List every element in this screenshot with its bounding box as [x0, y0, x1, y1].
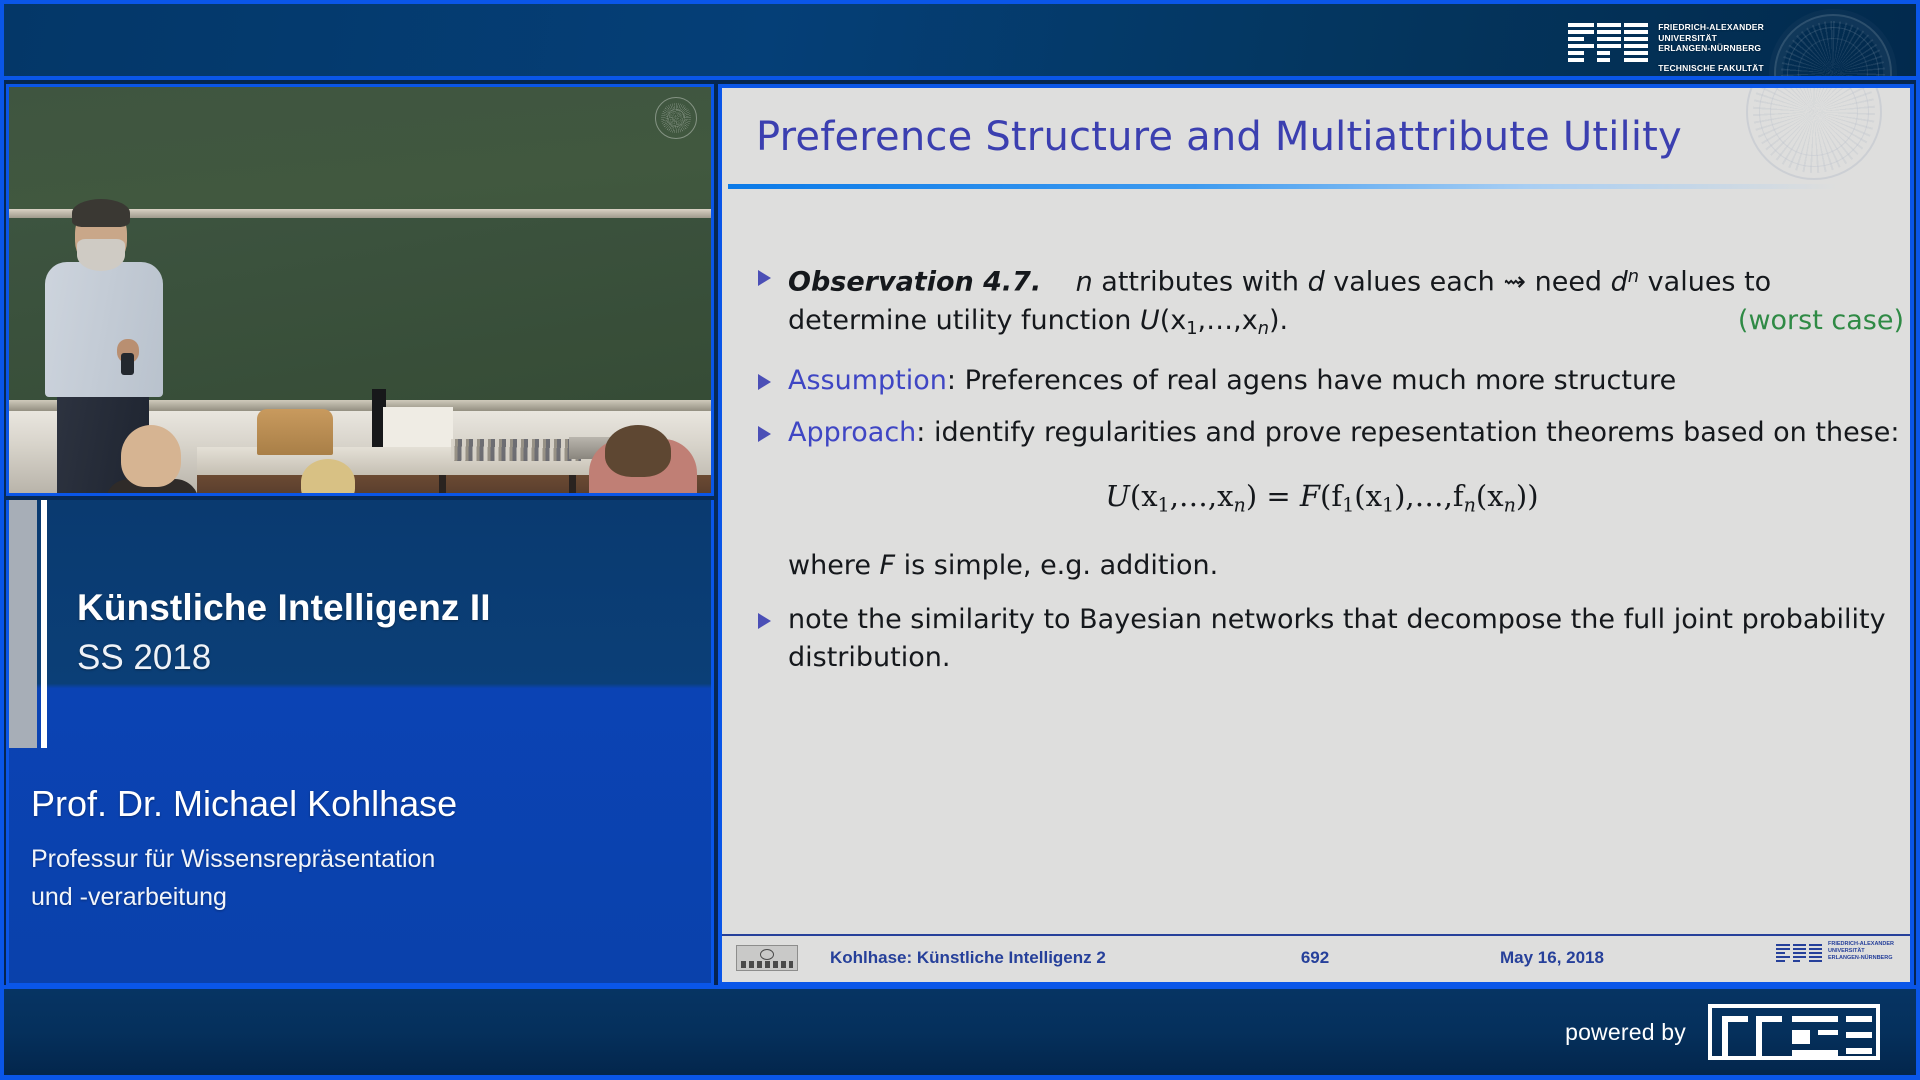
sub-n: n — [1258, 318, 1269, 339]
creative-commons-icon — [736, 945, 798, 971]
presenter-clicker — [121, 353, 134, 375]
accent-bar — [9, 500, 37, 748]
triangle-bullet-icon — [758, 613, 771, 629]
formula-fclose1: ),…,f — [1394, 479, 1463, 513]
bottom-bar: powered by — [4, 985, 1916, 1075]
powered-by-block: powered by — [1565, 1004, 1880, 1060]
approach-line: Approach: identify regularities and prov… — [788, 414, 1912, 452]
frame-right-border — [1916, 0, 1920, 1080]
bayesian-line-2: distribution. — [788, 639, 1912, 677]
frame-left-border — [0, 0, 4, 1080]
powered-by-label: powered by — [1565, 1019, 1686, 1046]
slide-title: Preference Structure and Multiattribute … — [756, 114, 1856, 160]
formula-farg2: (x — [1476, 479, 1504, 513]
player-stage: FRIEDRICH-ALEXANDER UNIVERSITÄT ERLANGEN… — [0, 0, 1920, 1080]
after-formula-F: F — [880, 550, 896, 581]
triangle-bullet-icon — [758, 426, 771, 442]
header-bar: FRIEDRICH-ALEXANDER UNIVERSITÄT ERLANGEN… — [4, 4, 1916, 80]
formula-fs2: n — [1464, 493, 1476, 516]
triangle-bullet-icon — [758, 270, 771, 286]
affiliation-line-1: Professur für Wissensrepräsentation — [31, 845, 435, 873]
formula-fsub1: 1 — [1382, 493, 1394, 516]
var-n: n — [1076, 267, 1093, 298]
squiggle-arrow-icon: ⇝ — [1503, 267, 1526, 298]
triangle-bullet-icon — [758, 374, 771, 390]
obs-text-g: values to — [1639, 267, 1771, 298]
lecturer-torso — [45, 262, 163, 397]
org-line-3: ERLANGEN-NÜRNBERG — [1658, 43, 1761, 53]
observation-line-1: Observation 4.7. n attributes with d val… — [788, 258, 1912, 302]
course-block: Künstliche Intelligenz II SS 2018 — [77, 586, 491, 682]
formula-farg1: (x — [1354, 479, 1382, 513]
observation-line-2: (worst case) determine utility function … — [788, 302, 1912, 348]
lecture-video-pane[interactable] — [6, 84, 714, 496]
accent-divider — [41, 500, 47, 748]
slide-body: Observation 4.7. n attributes with d val… — [732, 258, 1912, 691]
wooden-chair — [257, 409, 333, 455]
fau-logo-icon: FRIEDRICH-ALEXANDER UNIVERSITÄT ERLANGEN… — [1776, 938, 1894, 962]
student-head — [121, 425, 181, 487]
assumption-line: Assumption: Preferences of real agens ha… — [788, 362, 1912, 400]
university-seal-icon — [1774, 14, 1892, 80]
bench-divider — [439, 475, 446, 496]
obs-l2-b: (x — [1160, 305, 1187, 336]
var-d2: d — [1611, 267, 1628, 298]
formula-U: U — [1105, 479, 1129, 513]
title-underline — [728, 184, 1838, 189]
course-info-sidebar: Künstliche Intelligenz II SS 2018 Prof. … — [6, 500, 714, 986]
footer-title: Kohlhase: Künstliche Intelligenz 2 — [830, 948, 1250, 968]
formula-s2: n — [1234, 493, 1246, 516]
formula-F: F — [1300, 479, 1320, 513]
footer-org-line-2: UNIVERSITÄT — [1828, 948, 1865, 954]
exponent-n: n — [1628, 266, 1639, 287]
formula-mid: ,…,x — [1170, 479, 1234, 513]
after-formula-note: where F is simple, e.g. addition. — [732, 547, 1912, 585]
obs-text-e: need — [1526, 267, 1611, 298]
obs-l2-a: determine utility function — [788, 305, 1140, 336]
footer-org-line-1: FRIEDRICH-ALEXANDER — [1828, 941, 1894, 947]
obs-text-b: attributes with — [1093, 267, 1308, 298]
obs-l2-d: ). — [1269, 305, 1288, 336]
org-line-1: FRIEDRICH-ALEXANDER — [1658, 22, 1764, 32]
formula-close: ) = — [1246, 479, 1300, 513]
fau-logo-mark — [1568, 18, 1648, 62]
assumption-text: : Preferences of real agens have much mo… — [947, 365, 1676, 396]
bullet-approach: Approach: identify regularities and prov… — [732, 414, 1912, 452]
after-formula-a: where — [788, 550, 880, 581]
frame-bottom-border — [0, 1075, 1920, 1080]
utility-decomposition-formula: U(x1,…,xn) = F(f1(x1),…,fn(xn)) — [732, 474, 1912, 527]
footer-page-number: 692 — [1250, 948, 1380, 968]
formula-s1: 1 — [1158, 493, 1170, 516]
bench-divider — [569, 475, 576, 496]
bayesian-line-1: note the similarity to Bayesian networks… — [788, 601, 1912, 639]
approach-text: : identify regularities and prove repese… — [916, 417, 1899, 448]
obs-text-d: values each — [1325, 267, 1504, 298]
org-line-4: TECHNISCHE FAKULTÄT — [1658, 63, 1764, 74]
presenter-name: Prof. Dr. Michael Kohlhase — [31, 782, 671, 826]
approach-keyword: Approach — [788, 417, 916, 448]
slide-pane[interactable]: Preference Structure and Multiattribute … — [718, 84, 1914, 986]
org-line-2: UNIVERSITÄT — [1658, 33, 1717, 43]
affiliation-line-2: und -verarbeitung — [31, 883, 227, 911]
presenter-block: Prof. Dr. Michael Kohlhase Professur für… — [31, 782, 671, 916]
presenter-affiliation: Professur für Wissensrepräsentation und … — [31, 840, 671, 916]
func-U: U — [1140, 305, 1160, 336]
fau-logo-icon: FRIEDRICH-ALEXANDER UNIVERSITÄT ERLANGEN… — [1568, 18, 1764, 73]
fau-org-text: FRIEDRICH-ALEXANDER UNIVERSITÄT ERLANGEN… — [1658, 18, 1764, 73]
var-d: d — [1308, 267, 1325, 298]
assumption-keyword: Assumption — [788, 365, 947, 396]
footer-org-text: FRIEDRICH-ALEXANDER UNIVERSITÄT ERLANGEN… — [1828, 938, 1894, 962]
desk-cables — [451, 439, 581, 461]
footer-date: May 16, 2018 — [1500, 948, 1680, 968]
after-formula-b: is simple, e.g. addition. — [895, 550, 1218, 581]
formula-fclose2: )) — [1516, 479, 1539, 513]
footer-org-line-3: ERLANGEN-NÜRNBERG — [1828, 955, 1892, 961]
formula-open: (x — [1130, 479, 1158, 513]
observation-label: Observation 4.7. — [788, 267, 1041, 298]
formula-fs1: 1 — [1342, 493, 1354, 516]
frame-top-border — [0, 0, 1920, 4]
course-title: Künstliche Intelligenz II — [77, 586, 491, 630]
sub-1: 1 — [1186, 318, 1197, 339]
rrze-logo-icon — [1708, 1004, 1880, 1060]
obs-l2-c: ,…,x — [1198, 305, 1258, 336]
lecturer-beard — [77, 239, 125, 271]
formula-fsub2: n — [1504, 493, 1516, 516]
lecturer-hair — [72, 199, 130, 227]
worst-case-note: (worst case) — [1738, 302, 1904, 340]
bullet-observation: Observation 4.7. n attributes with d val… — [732, 258, 1912, 348]
student-head — [605, 425, 671, 477]
bullet-bayesian-note: note the similarity to Bayesian networks… — [732, 601, 1912, 677]
bullet-assumption: Assumption: Preferences of real agens ha… — [732, 362, 1912, 400]
course-term: SS 2018 — [77, 634, 491, 682]
formula-fopen: (f — [1320, 479, 1342, 513]
slide-footer: Kohlhase: Künstliche Intelligenz 2 692 M… — [722, 934, 1910, 982]
